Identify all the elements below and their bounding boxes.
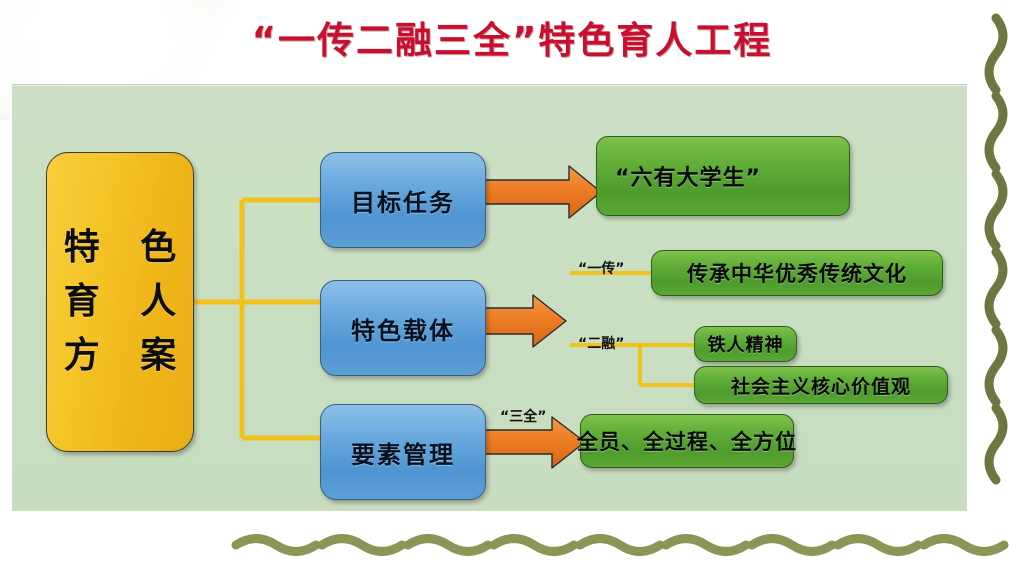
node-outcome-six-have-student-label: “六有大学生” — [615, 160, 761, 192]
node-branch-goal-task-label: 目标任务 — [351, 183, 455, 218]
slide-canvas: “一传二融三全”特色育人工程 — [0, 0, 1024, 562]
node-root-line-1: 特 色 — [50, 221, 191, 275]
branch-label-yichuan: “一传” — [578, 258, 624, 278]
node-branch-element-management[interactable]: 要素管理 — [320, 404, 486, 500]
vine-right-decoration — [989, 18, 1003, 480]
node-root-line-3: 方 案 — [50, 329, 191, 383]
node-branch-feature-carrier-label: 特色载体 — [351, 311, 455, 346]
branch-label-sanquan: “三全” — [500, 406, 546, 426]
node-outcome-iron-man-spirit-label: 铁人精神 — [708, 331, 784, 357]
node-branch-feature-carrier[interactable]: 特色载体 — [320, 280, 486, 376]
node-outcome-six-have-student[interactable]: “六有大学生” — [596, 136, 850, 216]
node-outcome-all-round[interactable]: 全员、全过程、全方位 — [580, 414, 794, 468]
node-branch-goal-task[interactable]: 目标任务 — [320, 152, 486, 248]
page-title: “一传二融三全”特色育人工程 — [0, 10, 1024, 64]
node-outcome-traditional-culture-label: 传承中华优秀传统文化 — [687, 258, 907, 288]
node-outcome-iron-man-spirit[interactable]: 铁人精神 — [694, 326, 797, 362]
branch-label-errong: “二融” — [578, 333, 624, 353]
node-root[interactable]: 特 色 育 人 方 案 — [46, 152, 194, 452]
node-outcome-core-values-label: 社会主义核心价值观 — [731, 372, 911, 399]
node-root-line-2: 育 人 — [50, 275, 191, 329]
node-branch-element-management-label: 要素管理 — [351, 435, 455, 470]
vine-bottom-decoration — [236, 539, 1004, 552]
node-outcome-traditional-culture[interactable]: 传承中华优秀传统文化 — [651, 250, 943, 296]
node-outcome-all-round-label: 全员、全过程、全方位 — [577, 426, 797, 456]
node-outcome-core-values[interactable]: 社会主义核心价值观 — [694, 366, 948, 404]
